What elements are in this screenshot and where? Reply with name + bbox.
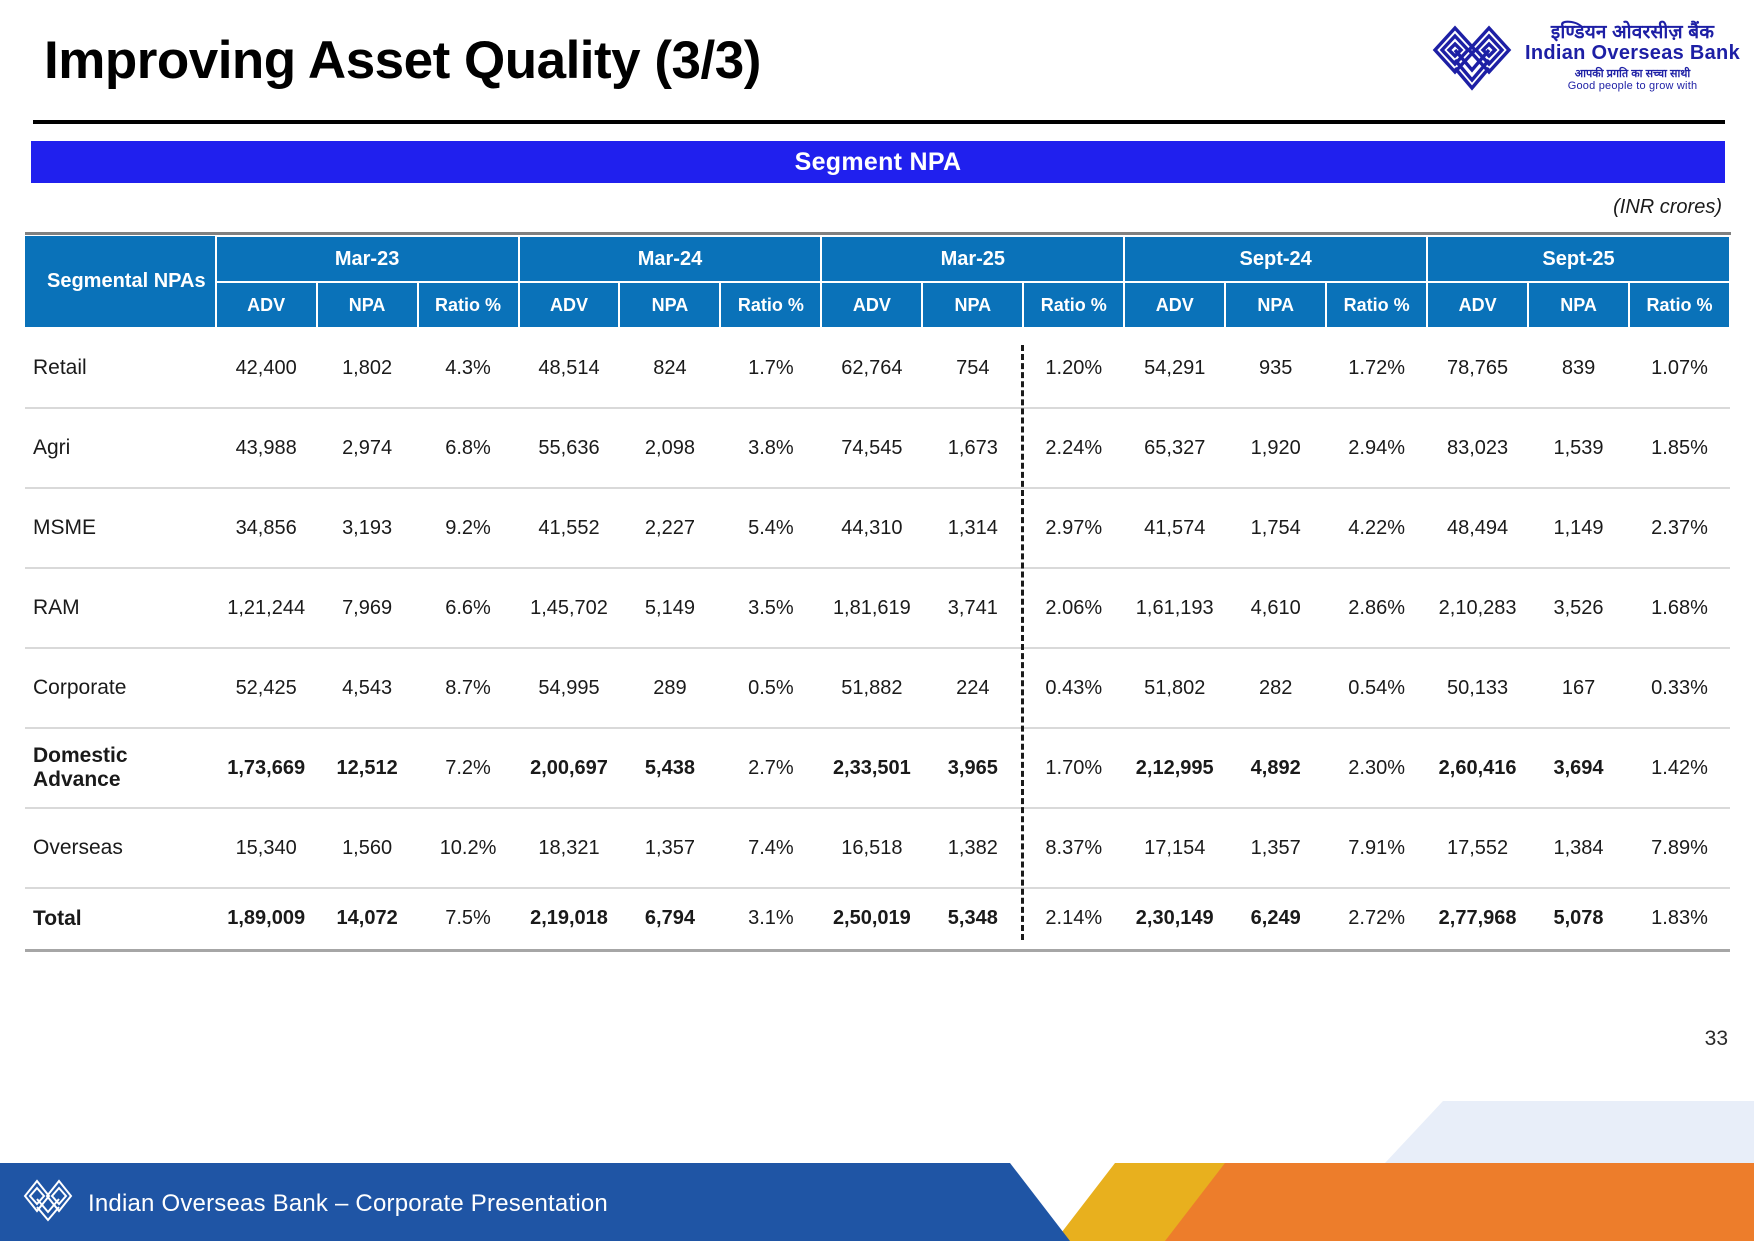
cell-npa: 4,543 [317, 648, 418, 728]
period-group-mar25: Mar-25 [821, 236, 1124, 282]
col-mar23-ratio: Ratio % [418, 282, 519, 328]
cell-ratio: 7.89% [1629, 808, 1730, 888]
period-group-mar23: Mar-23 [216, 236, 519, 282]
cell-ratio: 0.54% [1326, 648, 1427, 728]
cell-ratio: 2.30% [1326, 728, 1427, 808]
cell-npa: 1,149 [1528, 488, 1629, 568]
table-row: Agri43,9882,9746.8%55,6362,0983.8%74,545… [25, 408, 1730, 488]
table-row: RAM1,21,2447,9696.6%1,45,7025,1493.5%1,8… [25, 568, 1730, 648]
row-label: DomesticAdvance [25, 728, 216, 808]
cell-adv: 1,21,244 [216, 568, 317, 648]
table-row: Total1,89,00914,0727.5%2,19,0186,7943.1%… [25, 888, 1730, 950]
cell-npa: 1,560 [317, 808, 418, 888]
section-banner: Segment NPA [31, 141, 1725, 183]
sub-column-header-row: ADV NPA Ratio % ADV NPA Ratio % ADV NPA … [25, 282, 1730, 328]
footer-bar: Indian Overseas Bank – Corporate Present… [0, 1163, 1754, 1241]
cell-adv: 1,45,702 [519, 568, 620, 648]
row-label: Total [25, 888, 216, 950]
period-group-header-row: Segmental NPAs Mar-23 Mar-24 Mar-25 Sept… [25, 236, 1730, 282]
table-row: MSME34,8563,1939.2%41,5522,2275.4%44,310… [25, 488, 1730, 568]
cell-adv: 54,291 [1124, 328, 1225, 408]
cell-adv: 1,89,009 [216, 888, 317, 950]
cell-ratio: 1.42% [1629, 728, 1730, 808]
cell-npa: 4,610 [1225, 568, 1326, 648]
cell-ratio: 0.5% [720, 648, 821, 728]
cell-npa: 1,802 [317, 328, 418, 408]
cell-npa: 1,382 [922, 808, 1023, 888]
cell-ratio: 2.97% [1023, 488, 1124, 568]
cell-ratio: 2.72% [1326, 888, 1427, 950]
cell-ratio: 6.8% [418, 408, 519, 488]
cell-npa: 1,314 [922, 488, 1023, 568]
bank-logo: इण्डियन ओवरसीज़ बैंक Indian Overseas Ban… [1431, 22, 1740, 94]
cell-adv: 41,574 [1124, 488, 1225, 568]
cell-adv: 55,636 [519, 408, 620, 488]
col-mar24-npa: NPA [619, 282, 720, 328]
cell-npa: 6,794 [619, 888, 720, 950]
table-body: Retail42,4001,8024.3%48,5148241.7%62,764… [25, 328, 1730, 950]
page-title: Improving Asset Quality (3/3) [44, 30, 761, 91]
cell-ratio: 7.2% [418, 728, 519, 808]
cell-ratio: 1.70% [1023, 728, 1124, 808]
iob-diamond-logo-icon [1431, 22, 1515, 94]
cell-ratio: 1.20% [1023, 328, 1124, 408]
cell-npa: 2,974 [317, 408, 418, 488]
cell-npa: 5,438 [619, 728, 720, 808]
cell-adv: 51,802 [1124, 648, 1225, 728]
cell-ratio: 1.68% [1629, 568, 1730, 648]
cell-ratio: 2.94% [1326, 408, 1427, 488]
cell-adv: 43,988 [216, 408, 317, 488]
segment-npa-table: Segmental NPAs Mar-23 Mar-24 Mar-25 Sept… [25, 235, 1731, 952]
col-sept25-adv: ADV [1427, 282, 1528, 328]
row-label: Overseas [25, 808, 216, 888]
cell-adv: 2,00,697 [519, 728, 620, 808]
cell-adv: 65,327 [1124, 408, 1225, 488]
cell-npa: 3,965 [922, 728, 1023, 808]
col-mar25-adv: ADV [821, 282, 922, 328]
footer-pale-accent [1385, 1101, 1754, 1163]
cell-npa: 2,098 [619, 408, 720, 488]
cell-npa: 224 [922, 648, 1023, 728]
row-label: RAM [25, 568, 216, 648]
page-number: 33 [1705, 1027, 1728, 1051]
cell-ratio: 3.5% [720, 568, 821, 648]
cell-npa: 5,078 [1528, 888, 1629, 950]
cell-adv: 1,73,669 [216, 728, 317, 808]
table-head: Segmental NPAs Mar-23 Mar-24 Mar-25 Sept… [25, 236, 1730, 328]
footer-orange-accent [1145, 1163, 1754, 1241]
cell-adv: 41,552 [519, 488, 620, 568]
cell-adv: 34,856 [216, 488, 317, 568]
cell-ratio: 7.5% [418, 888, 519, 950]
table-row: Retail42,4001,8024.3%48,5148241.7%62,764… [25, 328, 1730, 408]
title-divider [33, 120, 1725, 124]
cell-ratio: 2.14% [1023, 888, 1124, 950]
cell-ratio: 3.1% [720, 888, 821, 950]
cell-ratio: 8.37% [1023, 808, 1124, 888]
cell-npa: 4,892 [1225, 728, 1326, 808]
cell-adv: 50,133 [1427, 648, 1528, 728]
period-dashed-separator [1021, 345, 1024, 940]
cell-npa: 1,357 [1225, 808, 1326, 888]
col-sept24-ratio: Ratio % [1326, 282, 1427, 328]
cell-ratio: 2.37% [1629, 488, 1730, 568]
cell-npa: 282 [1225, 648, 1326, 728]
cell-ratio: 8.7% [418, 648, 519, 728]
cell-adv: 1,81,619 [821, 568, 922, 648]
cell-adv: 54,995 [519, 648, 620, 728]
cell-ratio: 2.06% [1023, 568, 1124, 648]
cell-ratio: 10.2% [418, 808, 519, 888]
col-sept25-ratio: Ratio % [1629, 282, 1730, 328]
cell-ratio: 0.33% [1629, 648, 1730, 728]
cell-adv: 52,425 [216, 648, 317, 728]
cell-adv: 51,882 [821, 648, 922, 728]
slide: Improving Asset Quality (3/3) इण्डियन ओव… [0, 0, 1754, 1241]
col-sept24-npa: NPA [1225, 282, 1326, 328]
cell-adv: 2,10,283 [1427, 568, 1528, 648]
table-row: DomesticAdvance1,73,66912,5127.2%2,00,69… [25, 728, 1730, 808]
cell-ratio: 2.7% [720, 728, 821, 808]
period-group-sept24: Sept-24 [1124, 236, 1427, 282]
cell-adv: 2,19,018 [519, 888, 620, 950]
cell-adv: 18,321 [519, 808, 620, 888]
cell-npa: 3,193 [317, 488, 418, 568]
cell-adv: 17,552 [1427, 808, 1528, 888]
col-mar25-ratio: Ratio % [1023, 282, 1124, 328]
cell-ratio: 2.24% [1023, 408, 1124, 488]
cell-adv: 62,764 [821, 328, 922, 408]
cell-npa: 1,384 [1528, 808, 1629, 888]
cell-ratio: 1.83% [1629, 888, 1730, 950]
cell-npa: 1,754 [1225, 488, 1326, 568]
cell-npa: 3,694 [1528, 728, 1629, 808]
cell-ratio: 2.86% [1326, 568, 1427, 648]
cell-adv: 74,545 [821, 408, 922, 488]
segment-npa-table-container: Segmental NPAs Mar-23 Mar-24 Mar-25 Sept… [25, 235, 1731, 952]
cell-ratio: 0.43% [1023, 648, 1124, 728]
cell-ratio: 7.4% [720, 808, 821, 888]
period-group-mar24: Mar-24 [519, 236, 822, 282]
cell-ratio: 5.4% [720, 488, 821, 568]
table-row: Corporate52,4254,5438.7%54,9952890.5%51,… [25, 648, 1730, 728]
cell-npa: 5,149 [619, 568, 720, 648]
cell-adv: 78,765 [1427, 328, 1528, 408]
cell-ratio: 9.2% [418, 488, 519, 568]
cell-adv: 17,154 [1124, 808, 1225, 888]
cell-ratio: 3.8% [720, 408, 821, 488]
cell-ratio: 1.85% [1629, 408, 1730, 488]
cell-ratio: 4.3% [418, 328, 519, 408]
cell-npa: 824 [619, 328, 720, 408]
col-mar23-adv: ADV [216, 282, 317, 328]
cell-adv: 15,340 [216, 808, 317, 888]
col-mar24-ratio: Ratio % [720, 282, 821, 328]
cell-adv: 2,33,501 [821, 728, 922, 808]
cell-npa: 5,348 [922, 888, 1023, 950]
section-banner-title: Segment NPA [795, 148, 962, 177]
footer-text: Indian Overseas Bank – Corporate Present… [88, 1190, 608, 1218]
cell-adv: 48,514 [519, 328, 620, 408]
cell-npa: 754 [922, 328, 1023, 408]
col-mar25-npa: NPA [922, 282, 1023, 328]
cell-adv: 83,023 [1427, 408, 1528, 488]
cell-adv: 2,77,968 [1427, 888, 1528, 950]
cell-npa: 1,673 [922, 408, 1023, 488]
cell-ratio: 4.22% [1326, 488, 1427, 568]
cell-ratio: 7.91% [1326, 808, 1427, 888]
cell-adv: 42,400 [216, 328, 317, 408]
logo-hindi-name: इण्डियन ओवरसीज़ बैंक [1551, 23, 1714, 43]
cell-ratio: 1.07% [1629, 328, 1730, 408]
cell-npa: 935 [1225, 328, 1326, 408]
row-label: Corporate [25, 648, 216, 728]
cell-adv: 2,12,995 [1124, 728, 1225, 808]
cell-ratio: 1.7% [720, 328, 821, 408]
footer-diamond-logo-icon [22, 1177, 74, 1227]
col-sept24-adv: ADV [1124, 282, 1225, 328]
cell-adv: 2,30,149 [1124, 888, 1225, 950]
row-header-label: Segmental NPAs [25, 236, 216, 328]
logo-english-tagline: Good people to grow with [1568, 81, 1698, 93]
logo-english-name: Indian Overseas Bank [1525, 43, 1740, 64]
units-note: (INR crores) [1613, 196, 1722, 219]
cell-npa: 1,357 [619, 808, 720, 888]
cell-npa: 839 [1528, 328, 1629, 408]
cell-adv: 2,60,416 [1427, 728, 1528, 808]
table-row: Overseas15,3401,56010.2%18,3211,3577.4%1… [25, 808, 1730, 888]
cell-npa: 14,072 [317, 888, 418, 950]
row-label: Retail [25, 328, 216, 408]
cell-npa: 12,512 [317, 728, 418, 808]
cell-npa: 6,249 [1225, 888, 1326, 950]
cell-npa: 3,741 [922, 568, 1023, 648]
cell-ratio: 1.72% [1326, 328, 1427, 408]
cell-ratio: 6.6% [418, 568, 519, 648]
col-mar23-npa: NPA [317, 282, 418, 328]
cell-npa: 2,227 [619, 488, 720, 568]
cell-adv: 44,310 [821, 488, 922, 568]
cell-npa: 3,526 [1528, 568, 1629, 648]
cell-adv: 2,50,019 [821, 888, 922, 950]
period-group-sept25: Sept-25 [1427, 236, 1730, 282]
cell-npa: 289 [619, 648, 720, 728]
cell-adv: 48,494 [1427, 488, 1528, 568]
col-mar24-adv: ADV [519, 282, 620, 328]
row-label: MSME [25, 488, 216, 568]
cell-adv: 1,61,193 [1124, 568, 1225, 648]
cell-npa: 1,539 [1528, 408, 1629, 488]
col-sept25-npa: NPA [1528, 282, 1629, 328]
row-label: Agri [25, 408, 216, 488]
cell-npa: 7,969 [317, 568, 418, 648]
cell-adv: 16,518 [821, 808, 922, 888]
cell-npa: 167 [1528, 648, 1629, 728]
cell-npa: 1,920 [1225, 408, 1326, 488]
